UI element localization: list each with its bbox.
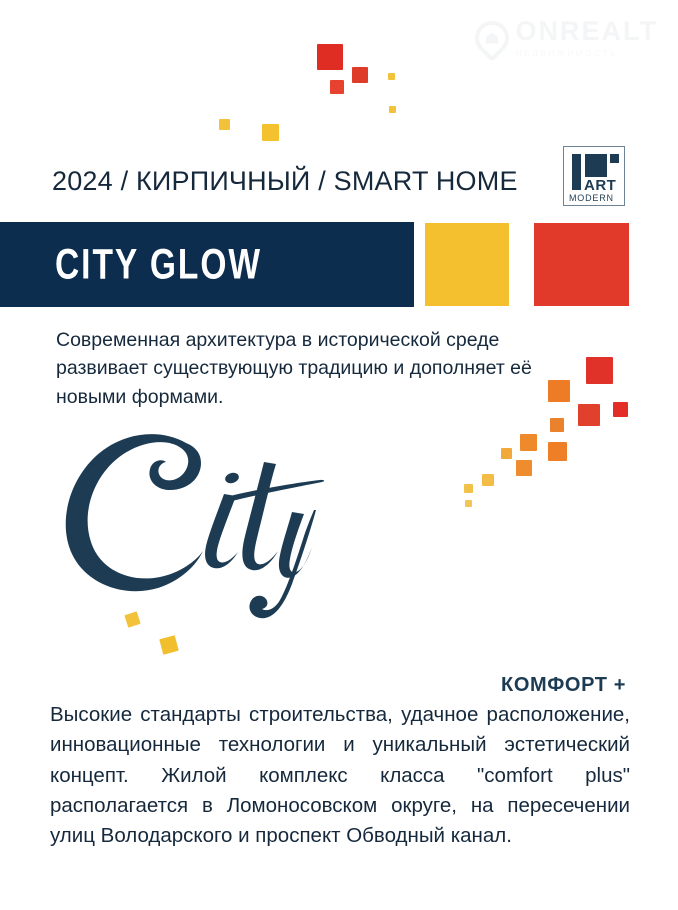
deco-square-yellow-j xyxy=(464,484,473,493)
deco-square-yellow-k xyxy=(465,500,472,507)
deco-square-red-b xyxy=(578,404,600,426)
city-script-glyphs xyxy=(66,434,324,618)
deco-square-red-small xyxy=(330,80,344,94)
deco-square-orange-f xyxy=(548,442,567,461)
watermark-brand: ONREALT xyxy=(516,18,659,45)
onrealt-watermark: ONREALT НЕДВИЖИМОСТЬ xyxy=(475,18,659,58)
logo-art-text: ART xyxy=(584,178,616,193)
deco-square-yellow-lg xyxy=(262,124,279,141)
logo-block-shape xyxy=(585,154,607,177)
band-square-yellow xyxy=(425,223,509,306)
page-title: CITY GLOW xyxy=(55,240,262,289)
deco-square-orange-e xyxy=(520,434,537,451)
intro-paragraph: Современная архитектура в исторической с… xyxy=(56,326,536,411)
art-modern-logo: ART MODERN xyxy=(563,146,625,206)
band-square-red xyxy=(534,223,629,306)
deco-square-orange-d xyxy=(550,418,564,432)
poster-canvas: ONREALT НЕДВИЖИМОСТЬ ART MODERN 2024 / К… xyxy=(0,0,678,910)
city-script-wordmark xyxy=(48,420,348,620)
comfort-heading: КОМФОРТ + xyxy=(501,674,626,697)
watermark-tagline: НЕДВИЖИМОСТЬ xyxy=(516,49,659,58)
deco-square-yellow-rot2 xyxy=(159,635,179,655)
deco-square-red-xl xyxy=(586,357,613,384)
body-paragraph: Высокие стандарты строительства, удачное… xyxy=(50,700,630,852)
watermark-text: ONREALT НЕДВИЖИМОСТЬ xyxy=(516,18,659,58)
logo-bar-shape xyxy=(572,154,581,190)
title-band: CITY GLOW xyxy=(0,222,414,307)
location-pin-house-icon xyxy=(467,14,515,62)
deco-square-orange-h xyxy=(516,460,532,476)
deco-square-yellow-g xyxy=(501,448,512,459)
deco-square-yellow-dot1 xyxy=(388,73,395,80)
deco-square-orange-a xyxy=(548,380,570,402)
logo-dot-shape xyxy=(610,154,619,163)
logo-modern-text: MODERN xyxy=(569,194,614,203)
header-tagline: 2024 / КИРПИЧНЫЙ / SMART HOME xyxy=(52,166,518,197)
deco-square-red-c xyxy=(613,402,628,417)
deco-square-yellow-i xyxy=(482,474,494,486)
deco-square-red-mid xyxy=(352,67,368,83)
deco-square-yellow-sm xyxy=(219,119,230,130)
deco-square-yellow-dot2 xyxy=(389,106,396,113)
deco-square-red-large xyxy=(317,44,343,70)
